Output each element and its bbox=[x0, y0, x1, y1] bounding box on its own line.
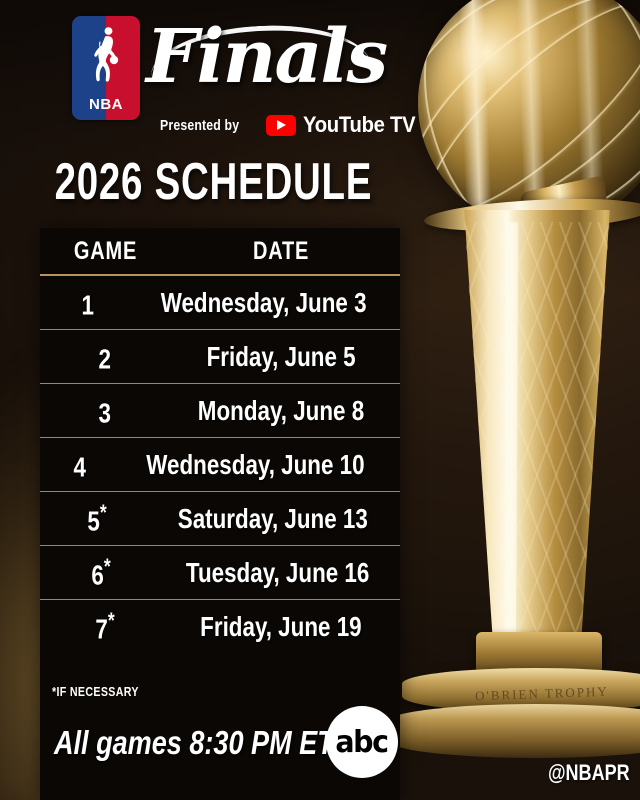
cell-game-number: 4 bbox=[40, 446, 119, 483]
play-triangle-icon bbox=[277, 120, 286, 130]
if-necessary-note: *IF NECESSARY bbox=[52, 684, 139, 699]
presented-by-label: Presented by bbox=[160, 117, 239, 134]
sponsor-name: YouTube TV bbox=[303, 112, 415, 138]
finals-logo-lockup: NBA Finals Presented by YouTube TV bbox=[0, 8, 420, 136]
finals-wordmark: Finals bbox=[146, 14, 386, 100]
cell-game-number: 5* bbox=[40, 500, 154, 537]
table-row: 4 Wednesday, June 10 bbox=[40, 438, 400, 492]
page-title: 2026 SCHEDULE bbox=[55, 152, 366, 212]
cell-game-date: Saturday, June 13 bbox=[154, 503, 400, 535]
table-row: 3 Monday, June 8 bbox=[40, 384, 400, 438]
abc-wordmark: abc bbox=[336, 725, 388, 760]
cell-game-date: Friday, June 19 bbox=[170, 611, 400, 643]
cell-game-number: 3 bbox=[40, 392, 170, 429]
cell-game-date: Friday, June 5 bbox=[170, 341, 400, 373]
cell-game-number: 7* bbox=[40, 608, 170, 645]
cell-game-number: 1 bbox=[40, 284, 135, 321]
nba-player-silhouette-icon bbox=[93, 24, 119, 86]
youtube-play-icon bbox=[266, 115, 296, 136]
cell-game-date: Monday, June 8 bbox=[170, 395, 400, 427]
cell-game-date: Wednesday, June 10 bbox=[119, 449, 400, 481]
header-cell-date: DATE bbox=[170, 237, 400, 266]
table-row: 1 Wednesday, June 3 bbox=[40, 276, 400, 330]
nba-finals-schedule-poster: O'BRIEN TROPHY NBA Finals Presented by Y… bbox=[0, 0, 640, 800]
cell-game-number: 2 bbox=[40, 338, 170, 375]
cell-game-date: Tuesday, June 16 bbox=[163, 557, 400, 589]
nba-logo-wordmark: NBA bbox=[72, 96, 140, 113]
table-row: 7* Friday, June 19 bbox=[40, 600, 400, 654]
table-row: 5* Saturday, June 13 bbox=[40, 492, 400, 546]
cell-game-number: 6* bbox=[40, 554, 163, 591]
cell-game-date: Wednesday, June 3 bbox=[135, 287, 400, 319]
nba-logo: NBA bbox=[72, 16, 140, 120]
social-handle-watermark: @NBAPR bbox=[548, 760, 630, 786]
abc-logo: abc bbox=[326, 706, 398, 778]
header-cell-game: GAME bbox=[40, 237, 170, 266]
trophy-net-texture bbox=[430, 222, 640, 652]
tipoff-time-text: All games 8:30 PM ET bbox=[54, 724, 334, 762]
presented-by-lockup: Presented by YouTube TV bbox=[160, 112, 425, 138]
table-row: 2 Friday, June 5 bbox=[40, 330, 400, 384]
table-row: 6* Tuesday, June 16 bbox=[40, 546, 400, 600]
table-header-row: GAME DATE bbox=[40, 228, 400, 276]
trophy-base-lower bbox=[386, 704, 640, 758]
